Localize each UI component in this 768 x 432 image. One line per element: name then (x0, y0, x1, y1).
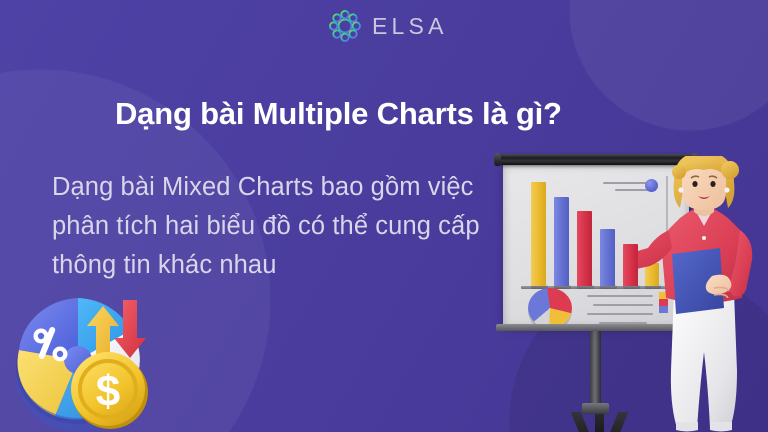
bar-4 (600, 229, 615, 286)
bar-5 (623, 244, 638, 286)
svg-text:$: $ (96, 367, 120, 416)
bar-3 (577, 211, 592, 286)
presentation-illustration (470, 140, 768, 432)
tripod-collar (582, 403, 609, 414)
brand-logo[interactable]: ELSA (327, 8, 448, 44)
tripod-leg-center (595, 412, 604, 432)
page-title: Dạng bài Multiple Charts là gì? (115, 96, 562, 132)
finance-pie-coin-icon: $ (0, 276, 168, 432)
tripod-leg-left (571, 412, 596, 432)
page-subtitle: Dạng bài Mixed Charts bao gồm việc phân … (52, 168, 502, 285)
elsa-flower-logo-icon (327, 8, 363, 44)
tripod-pole (590, 329, 601, 409)
slide-canvas: ELSA Dạng bài Multiple Charts là gì? Dạn… (0, 0, 768, 432)
female-presenter (638, 156, 768, 432)
brand-name: ELSA (372, 15, 448, 38)
bar-1 (531, 182, 546, 286)
tripod-leg-right (604, 412, 629, 432)
bar-2 (554, 197, 569, 286)
